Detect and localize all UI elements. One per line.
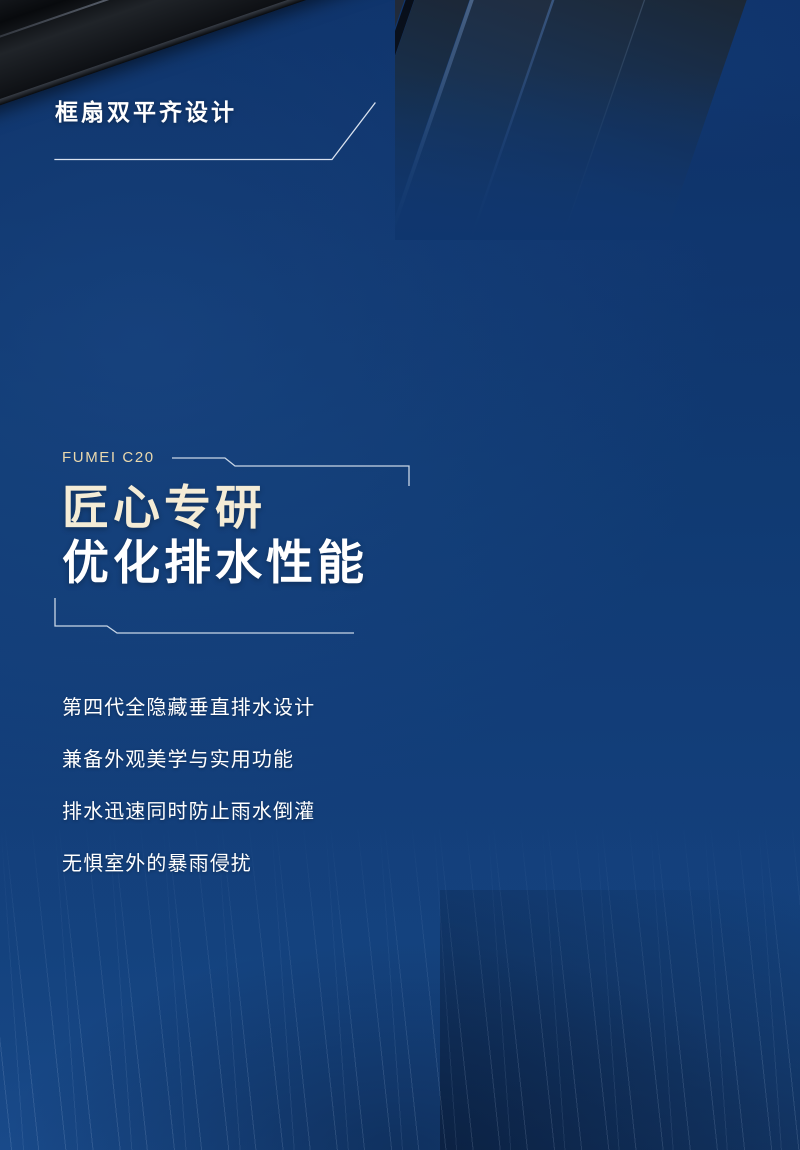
hero-block: FUMEI C20 匠心专研 优化排水性能 [55, 450, 455, 590]
product-poster: 框扇双平齐设计 FUMEI C20 匠心专研 优化排水性能 第四代全隐藏垂直排水… [0, 0, 800, 1150]
hero-title-line-2: 优化排水性能 [62, 536, 455, 591]
hero-title-line-1: 匠心专研 [62, 481, 455, 536]
window-slats-top-right-image [395, 0, 800, 240]
feature-list: 第四代全隐藏垂直排水设计 兼备外观美学与实用功能 排水迅速同时防止雨水倒灌 无惧… [62, 698, 492, 874]
top-caption-block: 框扇双平齐设计 [55, 100, 385, 125]
hero-bracket-bottom-icon [54, 598, 384, 642]
top-caption-text: 框扇双平齐设计 [55, 100, 385, 125]
top-caption-rule-icon [55, 145, 385, 161]
slats-fade-overlay [395, 0, 800, 240]
hero-bracket-top-icon [172, 446, 462, 486]
feature-item: 兼备外观美学与实用功能 [62, 750, 492, 770]
feature-item: 无惧室外的暴雨侵扰 [62, 854, 492, 874]
feature-item: 排水迅速同时防止雨水倒灌 [62, 802, 492, 822]
feature-item: 第四代全隐藏垂直排水设计 [62, 698, 492, 718]
